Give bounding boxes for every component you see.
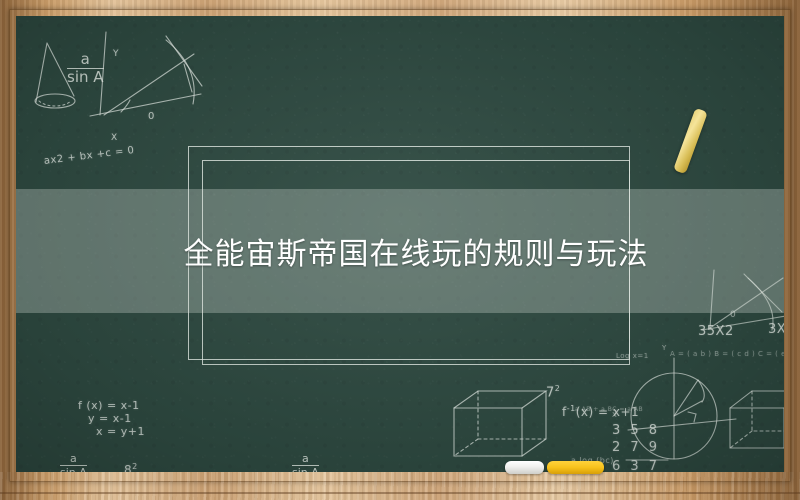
chalkboard-surface: a sin A Y X 0 ax2 + bx +c = 0 xyxy=(16,16,784,472)
page-title: 全能宙斯帝国在线玩的规则与玩法 xyxy=(16,189,784,313)
yellow-chalk-piece-icon xyxy=(547,461,604,474)
chalk-ledge-edge-line xyxy=(0,492,800,494)
chalkboard-banner: a sin A Y X 0 ax2 + bx +c = 0 xyxy=(0,0,800,500)
chalk-ledge-grain xyxy=(0,472,800,500)
white-chalk-piece-icon xyxy=(505,461,544,474)
